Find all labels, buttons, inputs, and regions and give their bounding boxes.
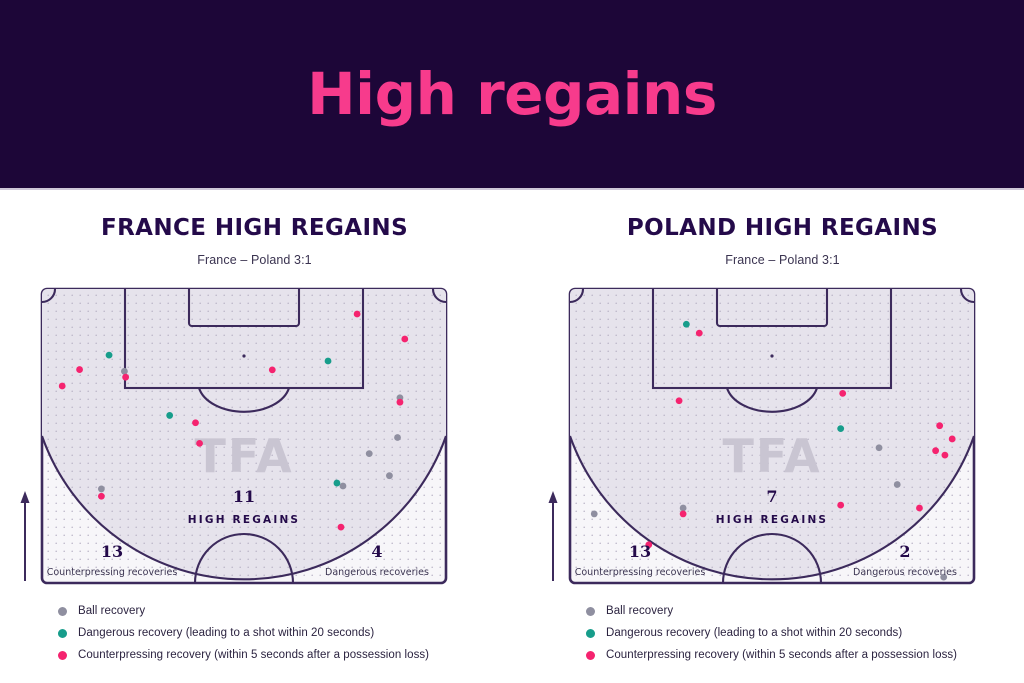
recovery-point: [366, 450, 373, 457]
recovery-point: [196, 440, 203, 447]
panel-france: FRANCE HIGH REGAINSFrance – Poland 3:1TF…: [22, 190, 487, 620]
legend-dot-icon: [586, 629, 595, 638]
attack-direction-arrow: [540, 286, 566, 586]
recovery-point: [401, 336, 408, 343]
tfa-watermark: TFA: [722, 429, 821, 483]
legend-item-counterpressing_recovery: Counterpressing recovery (within 5 secon…: [58, 644, 518, 666]
recovery-point: [932, 447, 939, 454]
legend-label: Counterpressing recovery (within 5 secon…: [78, 649, 429, 661]
legend-label: Counterpressing recovery (within 5 secon…: [606, 649, 957, 661]
legend-label: Dangerous recovery (leading to a shot wi…: [78, 627, 374, 639]
center-stat-label: HIGH REGAINS: [716, 514, 828, 526]
panel-subtitle: France – Poland 3:1: [22, 241, 487, 267]
recovery-point: [916, 505, 923, 512]
pitch-container: TFA7HIGH REGAINS13Counterpressing recove…: [550, 286, 1015, 586]
legend-label: Dangerous recovery (leading to a shot wi…: [606, 627, 902, 639]
center-stat-value: 11: [233, 487, 255, 506]
legend-dot-icon: [58, 607, 67, 616]
attack-direction-arrow: [12, 286, 38, 586]
header-banner: High regains: [0, 0, 1024, 188]
right-stat-label: Dangerous recoveries: [325, 567, 429, 578]
recovery-point: [122, 374, 129, 381]
legend-item-dangerous_recovery: Dangerous recovery (leading to a shot wi…: [586, 622, 1024, 644]
recovery-point: [106, 352, 113, 359]
pitch-diagram: TFA11HIGH REGAINS13Counterpressing recov…: [39, 286, 449, 586]
legend-label: Ball recovery: [606, 605, 673, 617]
legend-dot-icon: [58, 651, 67, 660]
recovery-point: [876, 444, 883, 451]
center-stat-label: HIGH REGAINS: [188, 514, 300, 526]
recovery-point: [76, 366, 83, 373]
left-stat-value: 13: [629, 542, 651, 561]
legend-poland: Ball recoveryDangerous recovery (leading…: [586, 600, 1024, 666]
panel-subtitle: France – Poland 3:1: [550, 241, 1015, 267]
legend-dot-icon: [58, 629, 67, 638]
panel-title: POLAND HIGH REGAINS: [550, 190, 1015, 241]
right-stat-value: 2: [899, 542, 910, 561]
recovery-point: [325, 358, 332, 365]
recovery-point: [397, 399, 404, 406]
right-stat-value: 4: [371, 542, 382, 561]
panel-title: FRANCE HIGH REGAINS: [22, 190, 487, 241]
recovery-point: [837, 425, 844, 432]
center-stat-value: 7: [766, 487, 777, 506]
recovery-point: [676, 397, 683, 404]
left-stat-label: Counterpressing recoveries: [575, 567, 706, 578]
legend-item-ball_recovery: Ball recovery: [58, 600, 518, 622]
recovery-point: [59, 383, 66, 390]
recovery-point: [166, 412, 173, 419]
pitch-container: TFA11HIGH REGAINS13Counterpressing recov…: [22, 286, 487, 586]
tfa-watermark: TFA: [194, 429, 293, 483]
recovery-point: [949, 436, 956, 443]
legend-label: Ball recovery: [78, 605, 145, 617]
recovery-point: [894, 481, 901, 488]
recovery-point: [936, 422, 943, 429]
pitch-diagram: TFA7HIGH REGAINS13Counterpressing recove…: [567, 286, 977, 586]
recovery-point: [591, 511, 598, 518]
recovery-point: [839, 390, 846, 397]
recovery-point: [680, 511, 687, 518]
recovery-point: [837, 502, 844, 509]
recovery-point: [192, 419, 199, 426]
recovery-point: [680, 505, 687, 512]
recovery-point: [98, 493, 105, 500]
legend-dot-icon: [586, 607, 595, 616]
legend-france: Ball recoveryDangerous recovery (leading…: [58, 600, 518, 666]
left-stat-label: Counterpressing recoveries: [47, 567, 178, 578]
page-title: High regains: [307, 65, 717, 123]
recovery-point: [338, 524, 345, 531]
high-regains-infographic: High regains FRANCE HIGH REGAINSFrance –…: [0, 0, 1024, 683]
legend-item-counterpressing_recovery: Counterpressing recovery (within 5 secon…: [586, 644, 1024, 666]
recovery-point: [394, 434, 401, 441]
recovery-point: [354, 311, 361, 318]
legend-item-dangerous_recovery: Dangerous recovery (leading to a shot wi…: [58, 622, 518, 644]
legend-item-ball_recovery: Ball recovery: [586, 600, 1024, 622]
recovery-point: [696, 330, 703, 337]
right-stat-label: Dangerous recoveries: [853, 567, 957, 578]
recovery-point: [98, 486, 105, 493]
recovery-point: [269, 366, 276, 373]
recovery-point: [386, 472, 393, 479]
recovery-point: [334, 480, 341, 487]
left-stat-value: 13: [101, 542, 123, 561]
recovery-point: [121, 368, 128, 375]
recovery-point: [683, 321, 690, 328]
recovery-point: [942, 452, 949, 459]
panel-poland: POLAND HIGH REGAINSFrance – Poland 3:1TF…: [550, 190, 1015, 620]
recovery-point: [340, 483, 347, 490]
legend-dot-icon: [586, 651, 595, 660]
